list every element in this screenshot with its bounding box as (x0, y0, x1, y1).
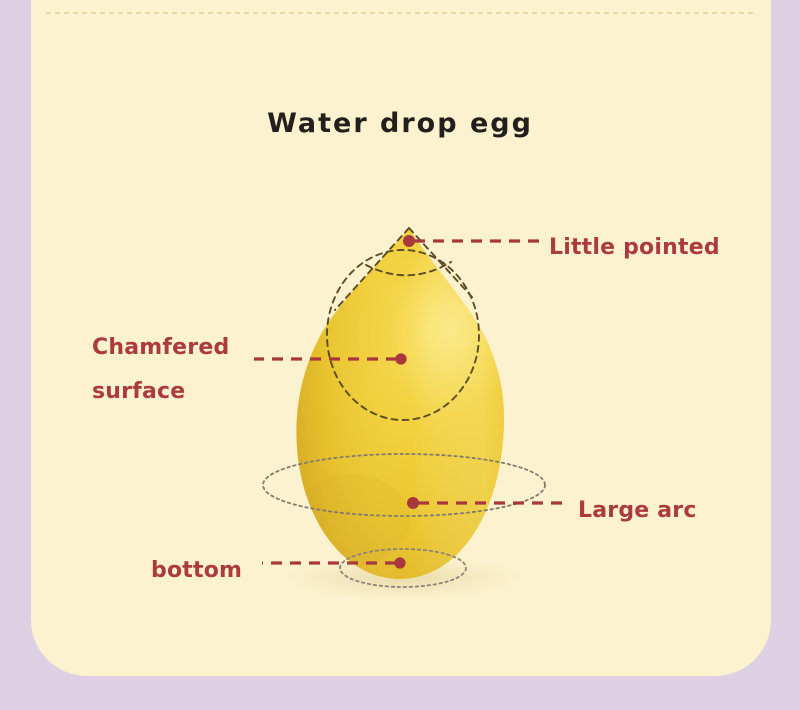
marker-chamfered-surface (395, 353, 406, 364)
callout-label-little-pointed: Little pointed (549, 226, 720, 270)
callout-label-chamfered-line-2: surface (92, 370, 229, 414)
marker-large-arc (407, 497, 419, 509)
callout-label-chamfered-surface: Chamfered surface (92, 326, 229, 414)
callout-label-bottom: bottom (151, 549, 242, 593)
callout-label-chamfered-line-1: Chamfered (92, 335, 229, 360)
marker-little-pointed (403, 235, 415, 247)
screenshot-stage: Water drop egg (0, 0, 800, 710)
marker-bottom (394, 557, 405, 568)
callout-label-large-arc: Large arc (578, 489, 697, 533)
sponge-body (290, 220, 520, 590)
